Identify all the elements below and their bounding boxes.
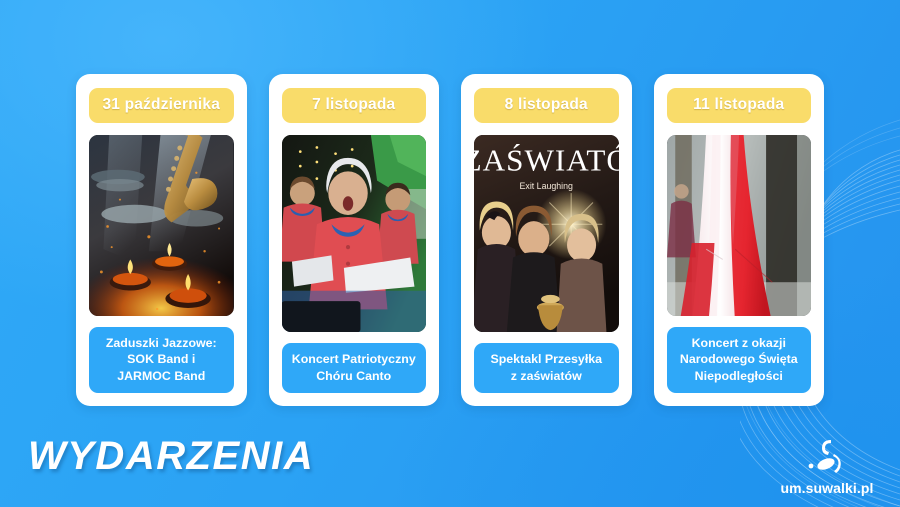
caption-line: Koncert z okazji [692,336,786,350]
suwalki-logo-icon [801,436,853,478]
event-caption-4: Koncert z okazji Narodowego Święta Niepo… [667,327,812,393]
events-card-row: 31 października [76,74,824,406]
event-caption-3: Spektakl Przesyłka z zaświatów [474,343,619,393]
caption-line: Koncert Patriotyczny [292,352,416,366]
event-caption-2: Koncert Patriotyczny Chóru Canto [282,343,427,393]
caption-line: Niepodległości [695,369,783,383]
poster-subtitle: Exit Laughing [520,181,574,191]
caption-line: JARMOC Band [117,369,205,383]
event-date-badge-3: 8 listopada [474,88,619,123]
event-image-4 [667,135,812,316]
caption-line: Spektakl Przesyłka [490,352,602,366]
poster-title: ZAŚWIATÓ [474,142,619,177]
site-logo[interactable]: um.suwalki.pl [768,424,886,496]
event-card-1[interactable]: 31 października [76,74,247,406]
event-card-3[interactable]: 8 listopada ZAŚWIATÓ Exit Laughing [461,74,632,406]
caption-line: SOK Band i [127,352,195,366]
caption-line: Narodowego Święta [680,352,798,366]
event-image-1 [89,135,234,316]
page-title: WYDARZENIA [28,434,314,479]
logo-text: um.suwalki.pl [780,480,873,496]
event-card-4[interactable]: 11 listopada [654,74,825,406]
event-card-2[interactable]: 7 listopada [269,74,440,406]
event-image-2 [282,135,427,332]
event-date-badge-1: 31 października [89,88,234,123]
caption-line: z zaświatów [511,369,582,383]
event-date-badge-2: 7 listopada [282,88,427,123]
event-image-3: ZAŚWIATÓ Exit Laughing [474,135,619,332]
caption-line: Chóru Canto [316,369,391,383]
event-caption-1: Zaduszki Jazzowe: SOK Band i JARMOC Band [89,327,234,393]
caption-line: Zaduszki Jazzowe: [106,336,217,350]
event-date-badge-4: 11 listopada [667,88,812,123]
